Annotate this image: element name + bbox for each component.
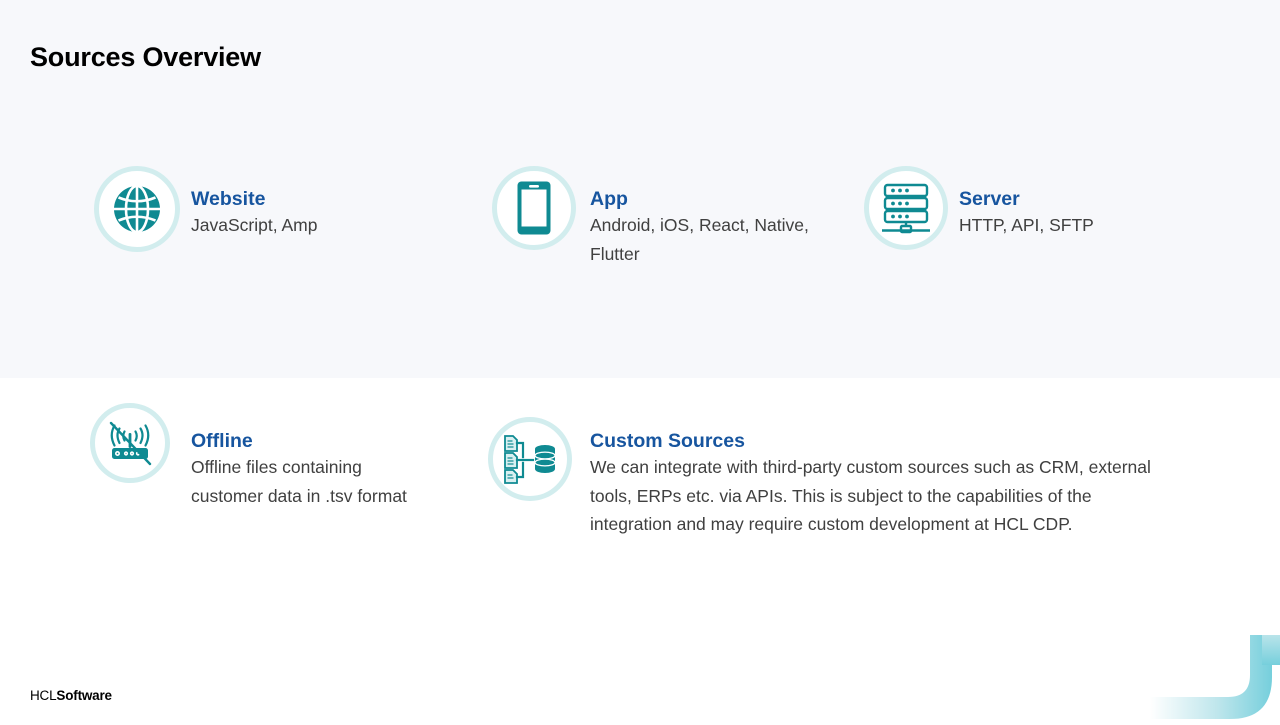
app-text-block: App Android, iOS, React, Native, Flutter	[590, 187, 820, 268]
offline-icon-ring	[90, 403, 170, 483]
custom-text-block: Custom Sources We can integrate with thi…	[590, 429, 1170, 539]
offline-text-block: Offline Offline files containing custome…	[191, 429, 426, 510]
slide-canvas: Sources Overview Website JavaScript, Amp	[0, 0, 1280, 720]
page-title: Sources Overview	[30, 42, 261, 73]
app-heading: App	[590, 187, 820, 211]
website-heading: Website	[191, 187, 431, 211]
website-icon-ring	[94, 166, 180, 252]
logo-hcl-text: HCL	[30, 688, 56, 703]
hcl-software-logo: HCLSoftware	[30, 688, 112, 703]
server-text-block: Server HTTP, API, SFTP	[959, 187, 1189, 240]
custom-icon-ring	[488, 417, 572, 501]
globe-icon	[111, 183, 163, 235]
source-item-server[interactable]: Server HTTP, API, SFTP	[864, 166, 1189, 250]
source-item-custom[interactable]: Custom Sources We can integrate with thi…	[488, 417, 1170, 539]
source-item-app[interactable]: App Android, iOS, React, Native, Flutter	[492, 166, 820, 268]
offline-heading: Offline	[191, 429, 426, 453]
source-item-website[interactable]: Website JavaScript, Amp	[94, 166, 431, 252]
app-description: Android, iOS, React, Native, Flutter	[590, 211, 820, 268]
offline-description: Offline files containing customer data i…	[191, 453, 426, 510]
server-description: HTTP, API, SFTP	[959, 211, 1189, 240]
website-text-block: Website JavaScript, Amp	[191, 187, 431, 240]
logo-software-text: Software	[56, 688, 111, 703]
app-icon-ring	[492, 166, 576, 250]
server-heading: Server	[959, 187, 1189, 211]
source-item-offline[interactable]: Offline Offline files containing custome…	[90, 403, 426, 510]
custom-heading: Custom Sources	[590, 429, 1170, 453]
server-rack-icon	[878, 180, 934, 236]
documents-to-database-icon	[502, 434, 558, 484]
custom-description: We can integrate with third-party custom…	[590, 453, 1170, 539]
smartphone-icon	[516, 180, 552, 236]
offline-router-icon	[104, 419, 156, 467]
corner-accent-decoration	[1150, 635, 1280, 720]
server-icon-ring	[864, 166, 948, 250]
website-description: JavaScript, Amp	[191, 211, 431, 240]
